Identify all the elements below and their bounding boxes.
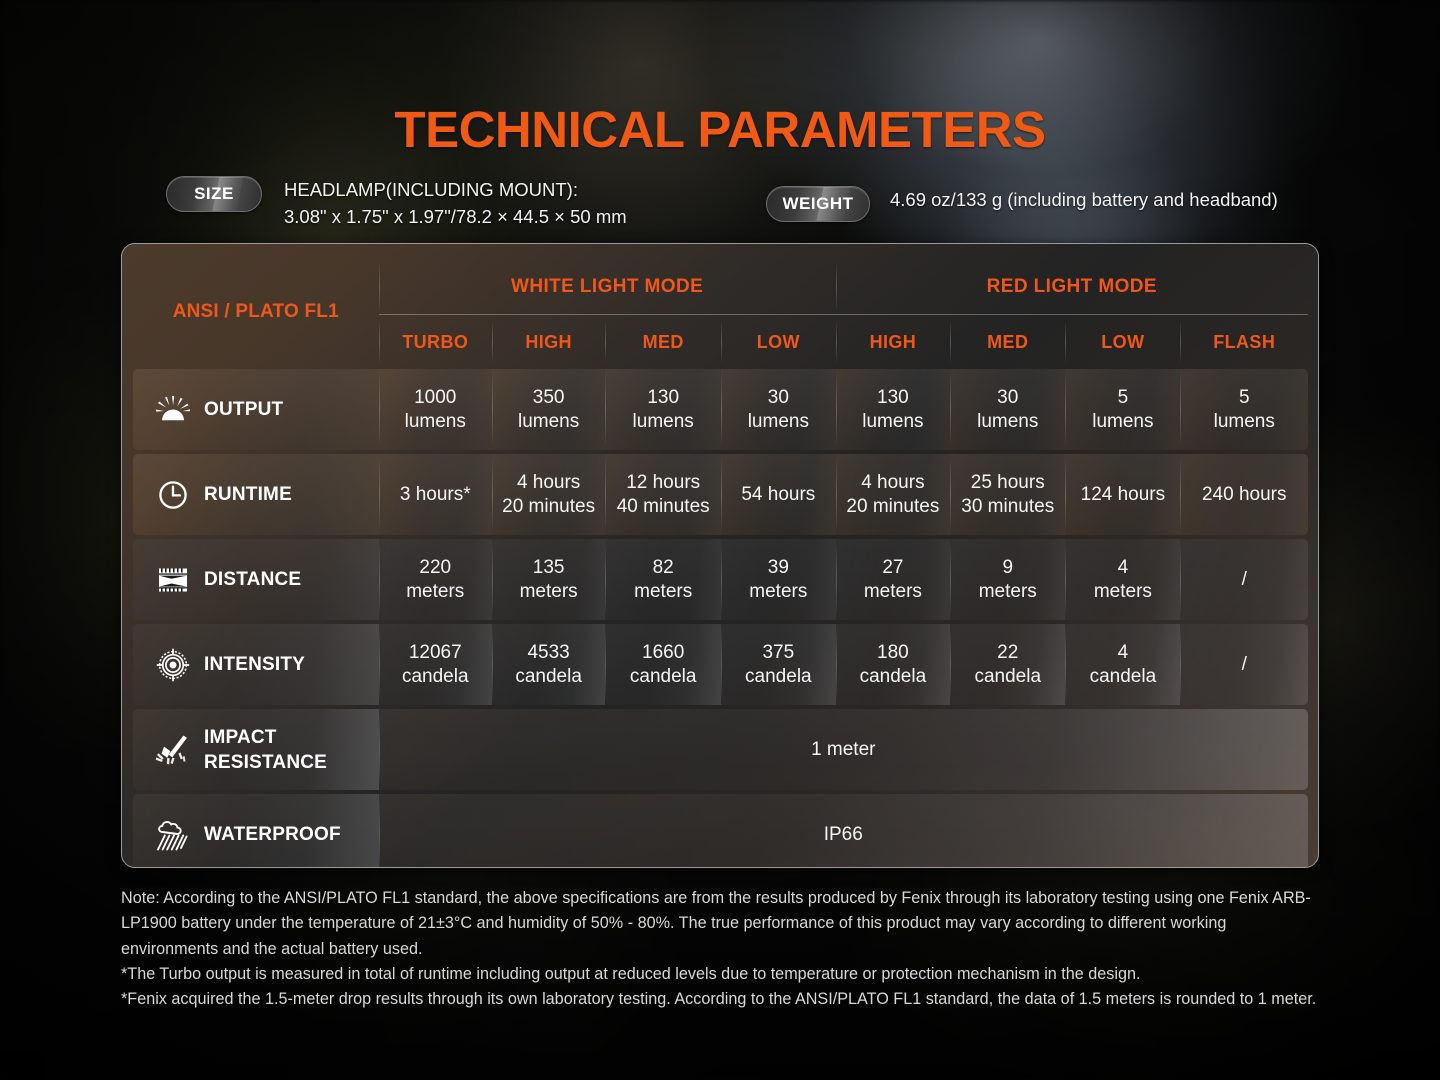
cell-intensity-red-med: 22 candela [950,624,1065,705]
table-row: IMPACT RESISTANCE 1 meter [133,709,1308,790]
cell-distance-red-high: 27 meters [836,539,951,620]
row-label-text: RUNTIME [204,482,292,507]
cell-distance-white-high: 135 meters [492,539,605,620]
cell-intensity-red-flash: / [1180,624,1308,705]
row-label-output: OUTPUT [133,369,379,450]
white-light-mode-header: WHITE LIGHT MODE [379,259,836,315]
note-drop: *Fenix acquired the 1.5-meter drop resul… [121,987,1321,1012]
level-header-red-med: MED [950,319,1065,365]
cell-intensity-white-med: 1660 candela [605,624,721,705]
ruler-beam-icon [155,562,191,598]
table-row: WATERPROOF IP66 [133,794,1308,868]
size-line-2: 3.08" x 1.75" x 1.97"/78.2 × 44.5 × 50 m… [284,203,627,230]
cell-intensity-white-low: 375 candela [721,624,836,705]
red-light-mode-header: RED LIGHT MODE [836,259,1308,315]
size-spec-text: HEADLAMP(INCLUDING MOUNT): 3.08" x 1.75"… [284,176,627,230]
page-title: TECHNICAL PARAMETERS [0,100,1440,159]
weight-badge: WEIGHT [766,186,870,222]
spec-table: ANSI / PLATO FL1 WHITE LIGHT MODE RED LI… [133,255,1308,868]
size-spec-group: SIZE HEADLAMP(INCLUDING MOUNT): 3.08" x … [166,176,627,230]
cell-runtime-white-low: 54 hours [721,454,836,535]
sun-rays-icon [155,392,191,428]
level-header-red-high: HIGH [836,319,951,365]
cell-output-red-low: 5 lumens [1065,369,1180,450]
row-label-waterproof: WATERPROOF [133,794,379,868]
row-label-text: WATERPROOF [204,822,341,847]
level-header-red-low: LOW [1065,319,1180,365]
rain-cloud-icon [155,817,191,853]
size-line-1: HEADLAMP(INCLUDING MOUNT): [284,176,627,203]
cell-waterproof-value: IP66 [379,794,1308,868]
row-label-impact-resistance: IMPACT RESISTANCE [133,709,379,790]
cell-output-white-low: 30 lumens [721,369,836,450]
row-label-text: DISTANCE [204,567,301,592]
spec-table-frame: ANSI / PLATO FL1 WHITE LIGHT MODE RED LI… [121,243,1319,868]
cell-intensity-red-low: 4 candela [1065,624,1180,705]
cell-distance-white-turbo: 220 meters [379,539,492,620]
cell-distance-red-flash: / [1180,539,1308,620]
level-header-white-high: HIGH [492,319,605,365]
cell-output-white-turbo: 1000 lumens [379,369,492,450]
clock-icon [155,477,191,513]
technical-parameters-page: TECHNICAL PARAMETERS SIZE HEADLAMP(INCLU… [0,0,1440,1080]
cell-runtime-red-flash: 240 hours [1180,454,1308,535]
cell-runtime-red-med: 25 hours 30 minutes [950,454,1065,535]
cell-runtime-white-turbo: 3 hours* [379,454,492,535]
cell-output-white-high: 350 lumens [492,369,605,450]
cell-output-red-high: 130 lumens [836,369,951,450]
level-header-white-low: LOW [721,319,836,365]
cell-output-red-med: 30 lumens [950,369,1065,450]
table-row: DISTANCE 220 meters 135 meters 82 meters… [133,539,1308,620]
cell-runtime-white-high: 4 hours 20 minutes [492,454,605,535]
table-mode-header-row: ANSI / PLATO FL1 WHITE LIGHT MODE RED LI… [133,259,1308,315]
note-main: Note: According to the ANSI/PLATO FL1 st… [121,886,1321,962]
cell-impact-resistance-value: 1 meter [379,709,1308,790]
ansi-plato-label: ANSI / PLATO FL1 [133,259,379,365]
level-header-white-turbo: TURBO [379,319,492,365]
cell-output-white-med: 130 lumens [605,369,721,450]
cell-runtime-red-high: 4 hours 20 minutes [836,454,951,535]
cell-intensity-white-high: 4533 candela [492,624,605,705]
cell-distance-red-med: 9 meters [950,539,1065,620]
cell-distance-red-low: 4 meters [1065,539,1180,620]
size-badge: SIZE [166,176,262,212]
row-label-distance: DISTANCE [133,539,379,620]
row-label-text: INTENSITY [204,652,305,677]
notes-block: Note: According to the ANSI/PLATO FL1 st… [121,886,1321,1012]
level-header-white-med: MED [605,319,721,365]
row-label-intensity: INTENSITY [133,624,379,705]
cell-distance-white-low: 39 meters [721,539,836,620]
table-row: RUNTIME 3 hours* 4 hours 20 minutes 12 h… [133,454,1308,535]
cell-output-red-flash: 5 lumens [1180,369,1308,450]
level-header-red-flash: FLASH [1180,319,1308,365]
cell-runtime-red-low: 124 hours [1065,454,1180,535]
cell-intensity-white-turbo: 12067 candela [379,624,492,705]
row-label-text: IMPACT RESISTANCE [204,725,327,775]
row-label-runtime: RUNTIME [133,454,379,535]
cell-distance-white-med: 82 meters [605,539,721,620]
table-row: OUTPUT 1000 lumens 350 lumens 130 lumens… [133,369,1308,450]
weight-spec-text: 4.69 oz/133 g (including battery and hea… [890,186,1278,213]
table-row: INTENSITY 12067 candela 4533 candela 166… [133,624,1308,705]
cell-runtime-white-med: 12 hours 40 minutes [605,454,721,535]
target-icon [155,647,191,683]
row-label-text: OUTPUT [204,397,283,422]
impact-drop-icon [155,732,191,768]
cell-intensity-red-high: 180 candela [836,624,951,705]
note-turbo: *The Turbo output is measured in total o… [121,962,1321,987]
size-weight-strip: SIZE HEADLAMP(INCLUDING MOUNT): 3.08" x … [166,176,1346,236]
weight-spec-group: WEIGHT 4.69 oz/133 g (including battery … [766,186,1278,222]
